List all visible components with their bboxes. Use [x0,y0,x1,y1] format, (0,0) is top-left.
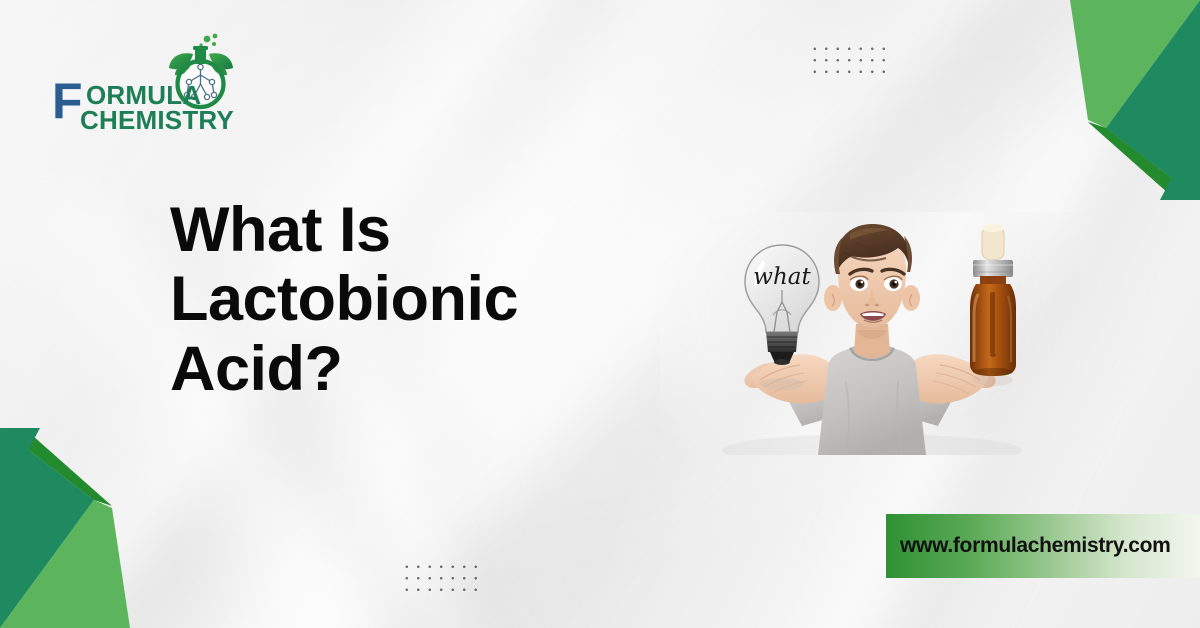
brand-wordmark: F ORMULA CHEMISTRY [50,78,240,140]
logo-initial: F [52,78,83,125]
headline-line-2: Lactobionic [170,265,690,334]
lightbulb-what-text: what [753,264,811,290]
logo-line-chemistry: CHEMISTRY [80,107,234,133]
promo-banner: F ORMULA CHEMISTRY What Is Lactobionic A… [0,0,1200,628]
website-url-text: www.formulachemistry.com [900,534,1171,558]
headline-line-3: Acid? [170,335,690,404]
page-title: What Is Lactobionic Acid? [170,196,690,404]
green-corner-bottom-left [0,428,190,628]
green-corner-top-right [1010,0,1200,200]
website-url-band[interactable]: www.formulachemistry.com [886,514,1200,578]
hero-photo: what [660,212,1080,455]
dot-grid-top-right [808,42,894,82]
brand-logo[interactable]: F ORMULA CHEMISTRY [50,32,280,142]
dot-grid-bottom-left [400,560,486,600]
headline-line-1: What Is [170,196,690,265]
photo-illustration: what [660,212,1080,455]
